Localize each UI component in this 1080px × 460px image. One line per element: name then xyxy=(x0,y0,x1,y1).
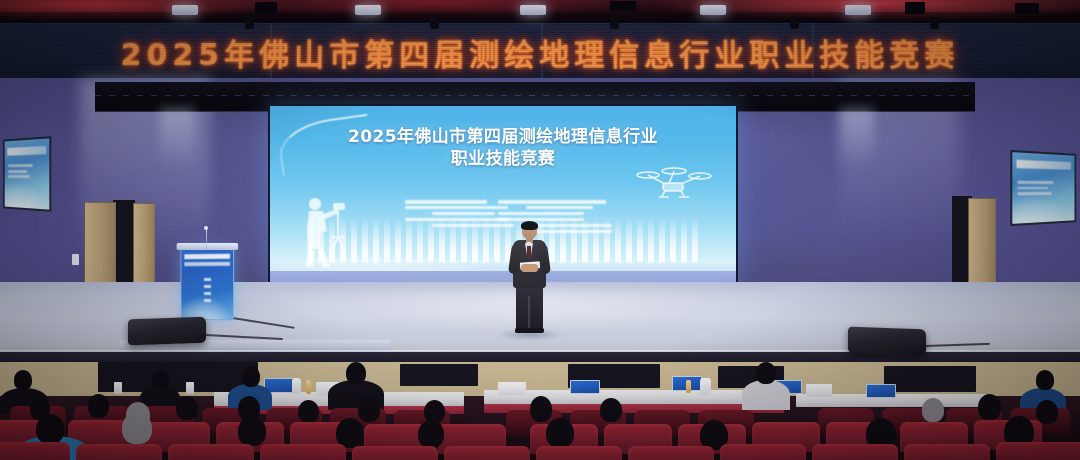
conference-hall-photo: 2025年佛山市第四届测绘地理信息行业职业技能竞赛 xyxy=(0,0,1080,460)
judge-table xyxy=(484,390,784,404)
stage-spotlight xyxy=(520,5,546,15)
water-bottle xyxy=(686,380,691,393)
audience-head xyxy=(600,398,622,422)
theater-seat xyxy=(76,444,162,460)
theater-seat xyxy=(168,444,254,460)
ceiling-fixture xyxy=(610,1,636,11)
moving-head-light xyxy=(610,17,619,29)
microphone-icon xyxy=(204,226,208,230)
credit-line xyxy=(405,206,508,209)
moving-head-light xyxy=(790,17,799,29)
audience-seating xyxy=(0,362,1080,460)
audience-head xyxy=(358,398,380,422)
led-banner: 2025年佛山市第四届测绘地理信息行业职业技能竞赛 xyxy=(0,22,1080,80)
presenter-hands xyxy=(521,264,538,272)
theater-seat xyxy=(352,446,438,460)
seated-person-head xyxy=(14,370,32,390)
credit-line xyxy=(405,218,508,221)
audience-head xyxy=(1036,400,1058,424)
seated-person-head xyxy=(1036,370,1054,390)
side-monitor-text-line xyxy=(8,170,27,173)
side-monitor-text-line xyxy=(8,175,30,178)
theater-seat xyxy=(904,444,990,460)
seated-person-head xyxy=(346,362,366,384)
side-monitor-left xyxy=(3,136,51,212)
moving-head-light xyxy=(930,17,939,29)
screen-title-line1: 2025年佛山市第四届测绘地理信息行业 xyxy=(348,127,658,147)
audience-head xyxy=(88,394,109,418)
podium-accent-line xyxy=(204,285,211,287)
moving-head-light xyxy=(245,17,254,29)
credit-line xyxy=(498,218,584,221)
presenter-shoes xyxy=(515,328,544,333)
side-monitor-right xyxy=(1010,150,1076,226)
audience-head xyxy=(530,396,552,422)
seated-person-head xyxy=(152,370,169,390)
moving-head-light xyxy=(430,17,439,29)
led-banner-text: 2025年佛山市第四届测绘地理信息行业职业技能竞赛 xyxy=(0,23,1080,80)
audience-head-gray-hair xyxy=(922,398,944,422)
side-monitor-text-line xyxy=(1018,181,1054,184)
tissue-box xyxy=(806,384,832,397)
ceiling-fixture xyxy=(905,2,925,14)
wall-sconce-left xyxy=(72,254,79,265)
seated-person-shoulders xyxy=(742,380,790,410)
light-beam xyxy=(840,108,874,168)
theater-seat xyxy=(0,442,70,460)
rear-dark-panel xyxy=(884,366,976,392)
stage-spotlight xyxy=(355,5,381,15)
rear-dark-panel xyxy=(400,364,478,386)
surveyor-icon xyxy=(293,191,353,269)
theater-seat xyxy=(720,444,806,460)
audience-head-foreground-gray xyxy=(122,412,152,444)
thermos-cup xyxy=(700,378,711,395)
presenter-leg-gap xyxy=(528,296,530,330)
stage-spotlight xyxy=(700,5,726,15)
stage-spotlight xyxy=(845,5,871,15)
tissue-box xyxy=(498,382,526,395)
podium-title-text xyxy=(184,254,229,260)
microphone-stand xyxy=(206,228,207,250)
theater-seat xyxy=(628,446,714,460)
side-monitor-text-line xyxy=(8,164,32,167)
laptop xyxy=(570,380,600,394)
side-monitor-text-line xyxy=(1018,187,1048,190)
theater-seat xyxy=(260,444,346,460)
seated-person-head xyxy=(756,362,776,384)
side-monitor-glow xyxy=(3,179,51,212)
presenter-hair xyxy=(521,221,538,230)
thermos-cup xyxy=(292,378,301,394)
presenter-tie xyxy=(527,246,531,259)
audience-head-foreground xyxy=(36,414,64,444)
paper-cup xyxy=(186,382,194,394)
screen-title-line2: 职业技能竞赛 xyxy=(289,148,718,170)
main-presentation-screen: 2025年佛山市第四届测绘地理信息行业 职业技能竞赛 xyxy=(268,104,738,289)
screen-title: 2025年佛山市第四届测绘地理信息行业 职业技能竞赛 xyxy=(289,126,718,171)
presenter-on-stage xyxy=(508,222,550,334)
podium-accent-line xyxy=(204,278,211,280)
laptop xyxy=(866,384,896,398)
theater-seat xyxy=(812,444,898,460)
stage-spotlight xyxy=(172,5,198,15)
podium-subtitle-text xyxy=(184,261,229,266)
theater-seat xyxy=(996,442,1080,460)
stage-monitor-speaker-right xyxy=(848,327,926,356)
podium-desktop xyxy=(177,243,239,250)
screen-credits-left xyxy=(405,200,508,227)
audience-head xyxy=(978,394,1001,420)
seated-person-head xyxy=(242,366,260,387)
speaking-podium xyxy=(180,248,234,321)
credit-line xyxy=(498,200,605,203)
audience-head-foreground xyxy=(546,418,574,448)
audience-head xyxy=(298,400,319,423)
water-bottle xyxy=(306,380,311,394)
theater-seat xyxy=(444,446,530,460)
side-monitor-title-bar xyxy=(7,146,46,156)
audience-head-foreground xyxy=(418,420,444,448)
ceiling-fixture xyxy=(255,2,277,13)
audience-head xyxy=(176,396,198,420)
stage-monitor-speaker-left xyxy=(128,317,206,346)
side-monitor-title-bar xyxy=(1016,160,1071,170)
side-monitor-glow xyxy=(1010,193,1076,226)
light-beam xyxy=(160,108,194,168)
theater-seat xyxy=(536,446,622,460)
credit-line xyxy=(405,200,487,203)
ceiling-fixture xyxy=(1015,3,1039,14)
paper-cup xyxy=(114,382,122,394)
audience-head-foreground xyxy=(238,416,266,446)
credit-line xyxy=(526,206,592,209)
credit-line xyxy=(498,212,584,215)
credit-line xyxy=(432,212,496,215)
